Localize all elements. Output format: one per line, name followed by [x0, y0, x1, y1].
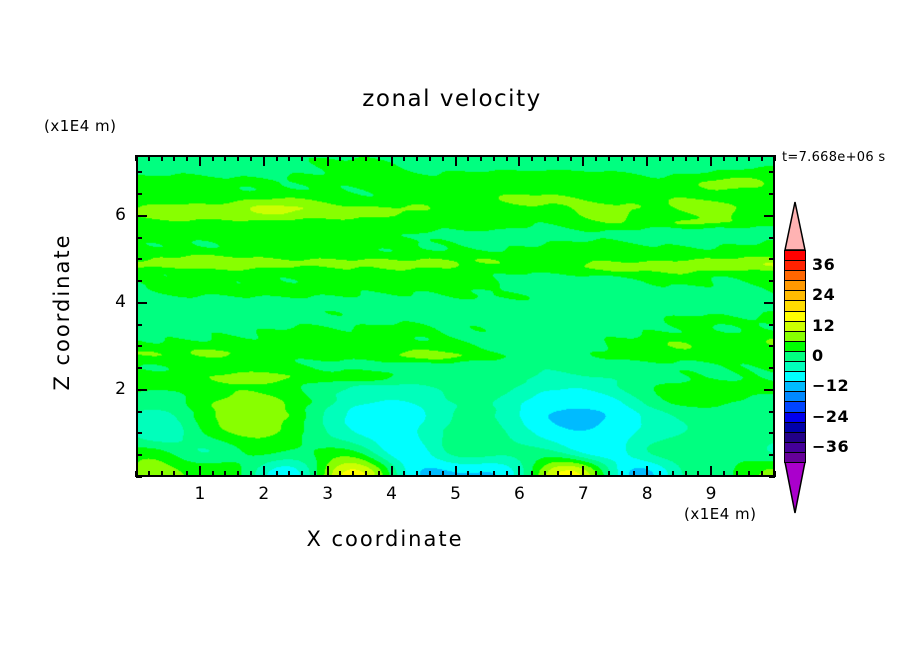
- contour-plot-area: [136, 155, 775, 477]
- x-minor-tick: [672, 471, 674, 477]
- x-minor-tick-top: [352, 155, 354, 161]
- colorbar-band: [784, 452, 806, 463]
- y-minor-tick-right: [769, 171, 775, 173]
- x-minor-tick: [633, 471, 635, 477]
- x-major-tick-top: [263, 155, 265, 166]
- x-minor-tick-top: [250, 155, 252, 161]
- x-minor-tick-top: [480, 155, 482, 161]
- y-minor-tick: [136, 432, 142, 434]
- y-major-tick: [136, 302, 147, 304]
- x-minor-tick-top: [403, 155, 405, 161]
- x-axis-title: X coordinate: [0, 527, 770, 551]
- x-major-tick: [518, 466, 520, 477]
- x-minor-tick: [442, 471, 444, 477]
- x-tick-label: 9: [691, 484, 731, 504]
- x-minor-tick: [531, 471, 533, 477]
- y-minor-tick: [136, 193, 142, 195]
- x-minor-tick-top: [595, 155, 597, 161]
- x-minor-tick: [429, 471, 431, 477]
- figure: zonal velocity (x1E4 m) (x1E4 m) t=7.668…: [0, 0, 904, 654]
- x-minor-tick: [186, 471, 188, 477]
- y-major-tick: [136, 389, 147, 391]
- x-minor-tick: [378, 471, 380, 477]
- x-minor-tick-top: [365, 155, 367, 161]
- y-minor-tick-right: [769, 454, 775, 456]
- x-minor-tick-top: [148, 155, 150, 161]
- x-minor-tick-top: [659, 155, 661, 161]
- x-minor-tick-top: [276, 155, 278, 161]
- x-minor-tick: [467, 471, 469, 477]
- velocity-field-canvas: [138, 157, 773, 475]
- x-tick-label: 3: [308, 484, 348, 504]
- x-minor-tick-top: [173, 155, 175, 161]
- x-tick-label: 8: [627, 484, 667, 504]
- colorbar-tick-label: −36: [812, 437, 849, 456]
- x-major-tick: [455, 466, 457, 477]
- y-minor-tick-right: [769, 193, 775, 195]
- x-minor-tick: [250, 471, 252, 477]
- y-minor-tick-right: [769, 367, 775, 369]
- x-minor-tick-top: [672, 155, 674, 161]
- x-minor-tick: [161, 471, 163, 477]
- x-tick-label: 7: [563, 484, 603, 504]
- x-minor-tick-top: [186, 155, 188, 161]
- colorbar-tick-label: 24: [812, 285, 835, 304]
- colorbar-tick-label: 36: [812, 255, 835, 274]
- x-minor-tick-top: [544, 155, 546, 161]
- x-minor-tick-top: [493, 155, 495, 161]
- y-minor-tick-right: [769, 324, 775, 326]
- x-minor-tick: [697, 471, 699, 477]
- y-tick-label: 6: [86, 205, 126, 225]
- x-minor-tick: [339, 471, 341, 477]
- x-minor-tick: [748, 471, 750, 477]
- x-major-tick-top: [710, 155, 712, 166]
- x-minor-tick: [301, 471, 303, 477]
- x-minor-tick: [276, 471, 278, 477]
- x-minor-tick: [148, 471, 150, 477]
- x-minor-tick: [506, 471, 508, 477]
- y-minor-tick-right: [769, 345, 775, 347]
- x-minor-tick: [403, 471, 405, 477]
- y-minor-tick: [136, 280, 142, 282]
- x-minor-tick-top: [506, 155, 508, 161]
- x-minor-tick: [416, 471, 418, 477]
- y-tick-label: 2: [86, 379, 126, 399]
- y-minor-tick: [136, 324, 142, 326]
- y-tick-label: 4: [86, 292, 126, 312]
- x-minor-tick-top: [212, 155, 214, 161]
- x-minor-tick: [224, 471, 226, 477]
- x-minor-tick: [365, 471, 367, 477]
- x-minor-tick: [212, 471, 214, 477]
- x-major-tick: [327, 466, 329, 477]
- x-major-tick: [582, 466, 584, 477]
- x-major-tick-top: [455, 155, 457, 166]
- x-minor-tick: [595, 471, 597, 477]
- x-minor-tick-top: [748, 155, 750, 161]
- y-minor-tick: [136, 258, 142, 260]
- x-major-tick-top: [582, 155, 584, 166]
- x-major-tick: [263, 466, 265, 477]
- x-tick-label: 6: [499, 484, 539, 504]
- x-minor-tick: [621, 471, 623, 477]
- x-minor-tick-top: [442, 155, 444, 161]
- x-minor-tick-top: [723, 155, 725, 161]
- x-tick-label: 4: [372, 484, 412, 504]
- y-minor-tick: [136, 454, 142, 456]
- x-minor-tick: [480, 471, 482, 477]
- y-minor-tick: [136, 367, 142, 369]
- x-minor-tick: [493, 471, 495, 477]
- x-major-tick-top: [199, 155, 201, 166]
- x-minor-tick: [237, 471, 239, 477]
- y-major-tick: [136, 215, 147, 217]
- x-major-tick-top: [327, 155, 329, 166]
- x-major-tick-top: [646, 155, 648, 166]
- x-minor-tick-top: [378, 155, 380, 161]
- x-minor-tick-top: [621, 155, 623, 161]
- x-minor-tick-top: [697, 155, 699, 161]
- x-minor-tick-top: [761, 155, 763, 161]
- x-minor-tick: [659, 471, 661, 477]
- x-minor-tick-top: [429, 155, 431, 161]
- x-minor-tick: [761, 471, 763, 477]
- x-minor-tick: [723, 471, 725, 477]
- x-minor-tick: [544, 471, 546, 477]
- x-tick-label: 2: [244, 484, 284, 504]
- x-minor-tick-top: [774, 155, 776, 161]
- x-minor-tick-top: [288, 155, 290, 161]
- x-minor-tick: [685, 471, 687, 477]
- x-major-tick-top: [391, 155, 393, 166]
- x-major-tick-top: [518, 155, 520, 166]
- y-minor-tick: [136, 345, 142, 347]
- y-minor-tick-right: [769, 258, 775, 260]
- x-axis-units-label: (x1E4 m): [684, 505, 757, 523]
- colorbar-tick-label: −24: [812, 407, 849, 426]
- y-minor-tick-right: [769, 237, 775, 239]
- x-minor-tick: [557, 471, 559, 477]
- x-minor-tick-top: [416, 155, 418, 161]
- y-major-tick-right: [764, 389, 775, 391]
- y-minor-tick-right: [769, 476, 775, 478]
- chart-title: zonal velocity: [0, 86, 904, 112]
- y-minor-tick-right: [769, 280, 775, 282]
- x-major-tick: [199, 466, 201, 477]
- y-minor-tick: [136, 171, 142, 173]
- x-minor-tick: [314, 471, 316, 477]
- y-minor-tick-right: [769, 411, 775, 413]
- y-minor-tick-right: [769, 432, 775, 434]
- x-minor-tick-top: [608, 155, 610, 161]
- x-minor-tick: [352, 471, 354, 477]
- x-minor-tick-top: [339, 155, 341, 161]
- y-axis-title: Z coordinate: [50, 212, 74, 412]
- y-major-tick-right: [764, 302, 775, 304]
- y-minor-tick: [136, 237, 142, 239]
- x-minor-tick: [173, 471, 175, 477]
- x-minor-tick-top: [633, 155, 635, 161]
- x-major-tick: [710, 466, 712, 477]
- x-minor-tick-top: [224, 155, 226, 161]
- x-minor-tick-top: [314, 155, 316, 161]
- x-minor-tick-top: [237, 155, 239, 161]
- x-minor-tick: [570, 471, 572, 477]
- x-minor-tick-top: [531, 155, 533, 161]
- x-minor-tick-top: [467, 155, 469, 161]
- x-major-tick: [391, 466, 393, 477]
- x-minor-tick: [288, 471, 290, 477]
- x-tick-label: 1: [180, 484, 220, 504]
- y-minor-tick: [136, 476, 142, 478]
- x-minor-tick-top: [135, 155, 137, 161]
- colorbar-tick-label: −12: [812, 376, 849, 395]
- x-major-tick: [646, 466, 648, 477]
- timestamp-label: t=7.668e+06 s: [782, 150, 885, 165]
- y-minor-tick: [136, 411, 142, 413]
- x-minor-tick-top: [161, 155, 163, 161]
- x-minor-tick-top: [570, 155, 572, 161]
- y-major-tick-right: [764, 215, 775, 217]
- x-minor-tick-top: [557, 155, 559, 161]
- x-minor-tick-top: [736, 155, 738, 161]
- colorbar-tick-label: 12: [812, 316, 835, 335]
- x-minor-tick: [608, 471, 610, 477]
- colorbar-tick-label: 0: [812, 346, 824, 365]
- x-minor-tick: [736, 471, 738, 477]
- x-tick-label: 5: [436, 484, 476, 504]
- x-minor-tick-top: [685, 155, 687, 161]
- x-minor-tick-top: [301, 155, 303, 161]
- z-axis-units-label: (x1E4 m): [44, 117, 117, 135]
